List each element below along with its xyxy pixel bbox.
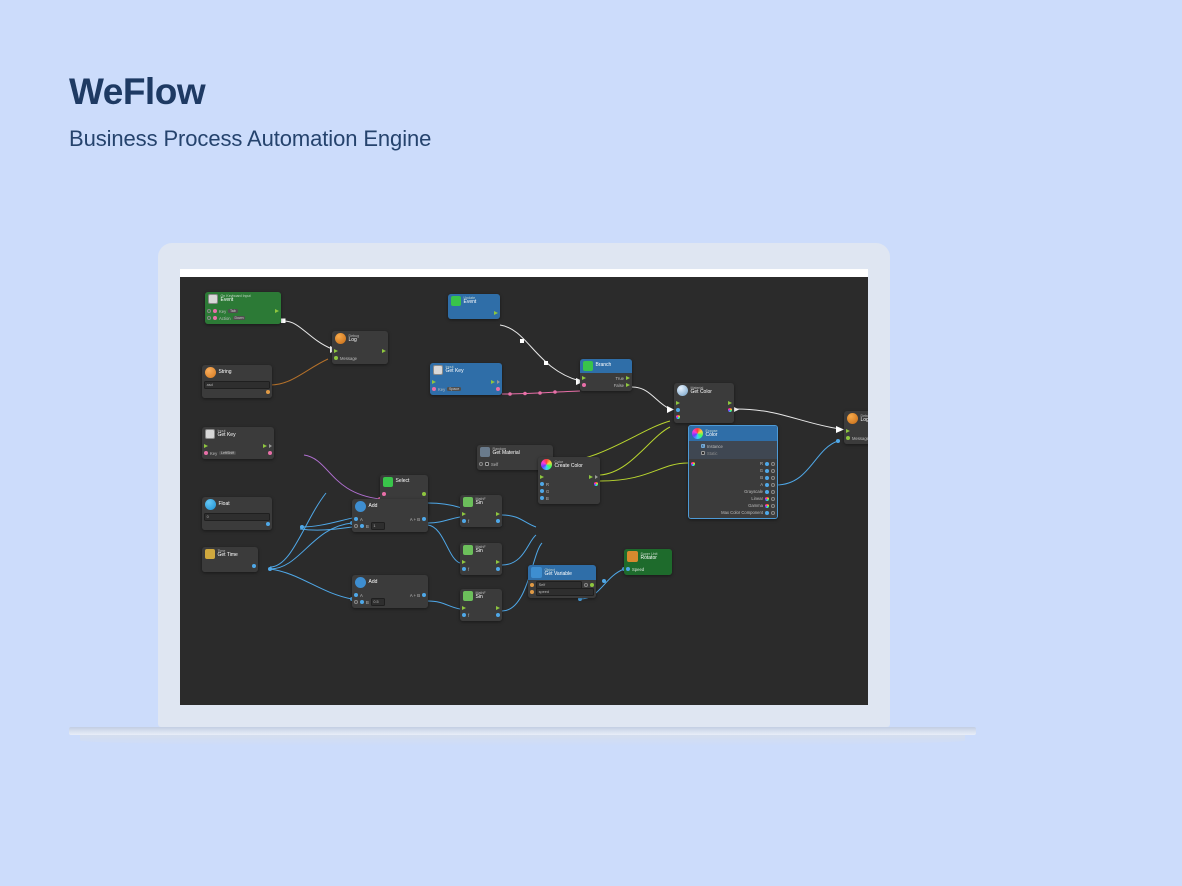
port-label: G: [760, 468, 763, 473]
keyboard-icon: [208, 294, 218, 304]
node-category: Super Unit: [641, 552, 658, 556]
port-dot-self[interactable]: [530, 583, 534, 587]
port-row-out[interactable]: [202, 563, 258, 570]
port-dot-color-out[interactable]: [594, 482, 598, 486]
node-object-get-variable[interactable]: Object Get Variable Self: [528, 565, 596, 598]
port-label: A: [760, 482, 763, 487]
laptop-bezel-strip: [180, 269, 868, 277]
node-header: Expose Color: [689, 426, 777, 441]
flow-out-arrow[interactable]: [494, 311, 498, 315]
node-title: Sin: [476, 549, 486, 555]
node-header: Time Get Time: [202, 547, 258, 561]
log-icon: [847, 413, 858, 424]
port-dot-f[interactable]: [462, 613, 466, 617]
port-dot-speed[interactable]: [530, 590, 534, 594]
port-dot-key[interactable]: [204, 451, 208, 455]
node-body: Message: [844, 426, 868, 444]
port-label: Gamma: [748, 503, 763, 508]
port-row-flow[interactable]: [844, 428, 868, 435]
action-value[interactable]: Down: [233, 316, 246, 321]
b-value-input[interactable]: 0.5: [371, 598, 385, 606]
port-row-f[interactable]: f: [460, 518, 502, 525]
port-dot-out[interactable]: [496, 567, 500, 571]
flow-in-arrow[interactable]: [462, 512, 466, 516]
node-add-1[interactable]: Add A A + B: [352, 499, 428, 532]
node-title: Get Material: [493, 451, 520, 457]
node-header: MathF Sin: [460, 495, 502, 509]
key-value[interactable]: Tab: [228, 309, 237, 314]
node-mathf-sin-3[interactable]: MathF Sin f: [460, 589, 502, 621]
branch-icon: [583, 361, 593, 371]
output-label: A + B: [410, 593, 420, 598]
self-icon[interactable]: [485, 462, 489, 466]
port-row-b[interactable]: B 1: [352, 523, 428, 530]
node-category: On Keyboard Input: [221, 294, 251, 298]
laptop-base-shadow: [80, 735, 965, 746]
port-label: Speed: [632, 567, 644, 572]
port-label: True: [616, 376, 624, 381]
port-dot-b[interactable]: [540, 496, 544, 500]
node-title: String: [219, 370, 232, 376]
node-body: R G B: [538, 472, 600, 504]
port-row-flow[interactable]: [674, 400, 734, 407]
flow-out-arrow[interactable]: [275, 309, 279, 313]
node-header: Object Get Variable: [528, 565, 596, 580]
node-category: MathF: [476, 591, 486, 595]
node-category: MathF: [476, 497, 486, 501]
port-dot-ring[interactable]: [771, 497, 775, 501]
key-value[interactable]: Space: [447, 387, 461, 392]
port-dot-out[interactable]: [252, 564, 256, 568]
port-dot-material[interactable]: [676, 408, 680, 412]
port-label: Self: [491, 462, 498, 467]
material-icon: [677, 385, 688, 396]
node-string-literal[interactable]: String asd: [202, 365, 272, 398]
port-row-a[interactable]: A: [689, 481, 777, 488]
b-value-input[interactable]: 1: [371, 522, 385, 530]
brand-header: WeFlow Business Process Automation Engin…: [69, 72, 431, 152]
port-dot-ring[interactable]: [771, 504, 775, 508]
port-label: A: [360, 593, 363, 598]
node-title: Add: [369, 580, 378, 586]
port-dot-a[interactable]: [354, 593, 358, 597]
port-dot-out[interactable]: [266, 390, 270, 394]
node-body: True False: [580, 373, 632, 391]
select-icon: [383, 477, 393, 487]
port-dot-out[interactable]: [496, 387, 500, 391]
node-title: Get Time: [218, 553, 238, 559]
port-row-message[interactable]: Message: [844, 435, 868, 442]
option-label: Instance: [707, 444, 723, 449]
port-dot-out[interactable]: [268, 451, 272, 455]
port-dot-condition[interactable]: [582, 383, 586, 387]
port-label: Max Color Component: [721, 510, 763, 515]
flow-out-arrow[interactable]: [496, 606, 500, 610]
port-dot-out[interactable]: [496, 519, 500, 523]
node-header: Debug Log: [332, 331, 388, 346]
node-expose-color[interactable]: Expose Color Instance Static: [688, 425, 778, 519]
port-dot-f[interactable]: [462, 519, 466, 523]
checkbox-instance[interactable]: [701, 444, 705, 448]
node-on-keyboard-input[interactable]: On Keyboard Input Event Key Tab: [205, 292, 281, 324]
port-dot-message[interactable]: [846, 436, 850, 440]
port-row-speed[interactable]: speed: [528, 589, 596, 596]
node-category: Expose: [706, 429, 718, 433]
node-body: f: [460, 509, 502, 527]
port-dot-a[interactable]: [765, 483, 769, 487]
float-value-row[interactable]: 0: [202, 514, 272, 521]
node-update-event[interactable]: Update Event: [448, 294, 500, 319]
port-label: Message: [852, 436, 868, 441]
node-header: Select: [380, 475, 428, 489]
flow-in-arrow[interactable]: [334, 349, 338, 353]
flow-out-arrow-true[interactable]: [626, 376, 630, 380]
port-row-false[interactable]: False: [580, 382, 632, 389]
node-title: Get Color: [691, 390, 712, 396]
node-title: Get Key: [446, 369, 464, 375]
flow-out-triangle[interactable]: [497, 380, 500, 384]
output-label: A + B: [410, 517, 420, 522]
flow-in-arrow[interactable]: [432, 380, 436, 384]
node-header: Super Unit Rotator: [624, 549, 672, 564]
port-dot-r[interactable]: [540, 482, 544, 486]
port-label: False: [614, 383, 624, 388]
node-body: [448, 308, 500, 319]
node-header: MathF Sin: [460, 589, 502, 603]
node-mathf-sin-2[interactable]: MathF Sin f: [460, 543, 502, 575]
port-row-key[interactable]: Key Space: [430, 386, 502, 393]
port-row-message[interactable]: Message: [332, 355, 388, 362]
node-title: Event: [221, 298, 251, 304]
flow-in-arrow[interactable]: [462, 560, 466, 564]
port-row-f[interactable]: f: [460, 612, 502, 619]
port-dot-ring[interactable]: [207, 316, 211, 320]
port-dot-out[interactable]: [422, 593, 426, 597]
node-category: Debug: [861, 414, 869, 418]
node-body: f: [460, 603, 502, 621]
port-dot-key[interactable]: [213, 309, 217, 313]
port-row-gamma[interactable]: Gamma: [689, 502, 777, 509]
node-title: Branch: [596, 363, 612, 369]
port-label: Action: [219, 316, 231, 321]
port-label: B: [760, 475, 763, 480]
port-row-material[interactable]: [674, 407, 734, 414]
port-dot-out[interactable]: [590, 583, 594, 587]
port-label: f: [468, 567, 469, 572]
color-icon: [541, 459, 552, 470]
node-float-literal[interactable]: Float 0: [202, 497, 272, 530]
node-title: Add: [369, 504, 378, 510]
port-row-out[interactable]: [202, 389, 272, 396]
option-label: Static: [707, 451, 717, 456]
node-category: Random: [493, 447, 520, 451]
port-row-f[interactable]: f: [460, 566, 502, 573]
laptop-screen: On Keyboard Input Event Key Tab: [180, 277, 868, 705]
node-body: f: [460, 557, 502, 575]
superunit-icon: [627, 551, 638, 562]
port-dot-out[interactable]: [496, 613, 500, 617]
color-icon: [692, 428, 703, 439]
variable-name-input[interactable]: speed: [536, 588, 594, 596]
math-icon: [463, 545, 473, 555]
flow-out-arrow[interactable]: [728, 401, 732, 405]
port-dot-out[interactable]: [422, 492, 426, 496]
port-label: Linear: [751, 496, 763, 501]
port-dot-ring[interactable]: [354, 600, 358, 604]
laptop-base: [69, 727, 976, 735]
math-icon: [463, 591, 473, 601]
node-body: [674, 398, 734, 423]
option-row-instance[interactable]: Instance: [689, 443, 777, 450]
string-icon: [205, 367, 216, 378]
node-category: Color: [555, 460, 583, 464]
random-icon: [480, 447, 490, 457]
port-dot-action[interactable]: [213, 316, 217, 320]
flow-out-arrow[interactable]: [496, 560, 500, 564]
port-row-b[interactable]: B: [538, 495, 600, 502]
keyboard-icon: [205, 429, 215, 439]
port-label: R: [760, 461, 763, 466]
port-row-action[interactable]: Action Down: [205, 315, 281, 322]
port-row-flow-out[interactable]: [448, 310, 500, 317]
port-dot-ring[interactable]: [207, 309, 211, 313]
port-dot-ring[interactable]: [771, 462, 775, 466]
port-dot-max-color[interactable]: [765, 511, 769, 515]
port-label: Key: [219, 309, 226, 314]
node-mathf-sin-1[interactable]: MathF Sin f: [460, 495, 502, 527]
port-dot-color-in[interactable]: [676, 415, 680, 419]
add-icon: [355, 577, 366, 588]
port-row-flow[interactable]: [430, 379, 502, 386]
flow-out-triangle[interactable]: [595, 475, 598, 479]
port-row-flow[interactable]: [460, 511, 502, 518]
math-icon: [463, 497, 473, 507]
port-row-condition[interactable]: [380, 491, 428, 498]
node-header: MathF Sin: [460, 543, 502, 557]
port-row-flow[interactable]: [202, 443, 274, 450]
port-row-a[interactable]: A A + B: [352, 592, 428, 599]
port-row-max-color-component[interactable]: Max Color Component: [689, 509, 777, 516]
port-dot-ring[interactable]: [354, 524, 358, 528]
flow-in-arrow[interactable]: [540, 475, 544, 479]
port-row-linear[interactable]: Linear: [689, 495, 777, 502]
flow-out-arrow[interactable]: [382, 349, 386, 353]
port-row-g[interactable]: G: [689, 467, 777, 474]
port-label: f: [468, 613, 469, 618]
port-row-flow[interactable]: [460, 605, 502, 612]
node-category: Time: [218, 549, 238, 553]
port-dot-b[interactable]: [360, 600, 364, 604]
node-options: Instance Static: [689, 441, 777, 459]
node-category: Update: [464, 296, 477, 300]
port-dot-condition[interactable]: [382, 492, 386, 496]
port-dot-color-in[interactable]: [691, 462, 695, 466]
port-dot-grayscale[interactable]: [765, 490, 769, 494]
node-debug-log-right[interactable]: Debug Log Message: [844, 411, 868, 444]
flow-in-arrow[interactable]: [676, 401, 680, 405]
port-row-color[interactable]: [674, 414, 734, 421]
node-input-get-key-leftshift[interactable]: Input Get Key Key: [202, 427, 274, 459]
port-dot-speed[interactable]: [626, 567, 630, 571]
node-category: Input: [446, 365, 464, 369]
node-input-get-key-space[interactable]: Input Get Key Key: [430, 363, 502, 395]
port-dot-b[interactable]: [360, 524, 364, 528]
port-dot-linear[interactable]: [765, 497, 769, 501]
flow-in-arrow[interactable]: [846, 429, 850, 433]
port-label: G: [546, 489, 549, 494]
port-row-key[interactable]: Key LeftShift: [202, 450, 274, 457]
node-title: Get Key: [218, 433, 236, 439]
port-dot-out[interactable]: [266, 522, 270, 526]
keyboard-icon: [433, 365, 443, 375]
float-icon: [205, 499, 216, 510]
node-title: Event: [464, 300, 477, 306]
port-row-flow[interactable]: [332, 348, 388, 355]
node-title: Log: [861, 418, 869, 424]
port-dot-key[interactable]: [432, 387, 436, 391]
node-header: Input Get Key: [430, 363, 502, 377]
node-graph-canvas[interactable]: On Keyboard Input Event Key Tab: [180, 277, 868, 705]
flow-out-arrow[interactable]: [496, 512, 500, 516]
node-header: Debug Log: [844, 411, 868, 426]
node-category: Input: [218, 429, 236, 433]
node-header: String: [202, 365, 272, 380]
node-time-get-time[interactable]: Time Get Time: [202, 547, 258, 572]
port-label: Message: [340, 356, 357, 361]
port-label: B: [546, 496, 549, 501]
port-dot-ring[interactable]: [771, 476, 775, 480]
port-row-b[interactable]: B 0.5: [352, 599, 428, 606]
port-dot-f[interactable]: [462, 567, 466, 571]
flow-out-triangle[interactable]: [269, 444, 272, 448]
time-icon: [205, 549, 215, 559]
node-color-create-color[interactable]: Color Create Color R: [538, 457, 600, 504]
flow-out-arrow[interactable]: [491, 380, 495, 384]
node-body: Self speed: [528, 580, 596, 598]
port-label: f: [468, 519, 469, 524]
node-header: Color Create Color: [538, 457, 600, 472]
port-row-r[interactable]: R: [538, 481, 600, 488]
port-row-r[interactable]: R: [689, 460, 777, 467]
port-label: B: [366, 600, 369, 605]
node-header: Float: [202, 497, 272, 512]
node-body: A A + B B 1: [352, 514, 428, 532]
node-title: Rotator: [641, 556, 658, 562]
port-dot-ring[interactable]: [479, 462, 483, 466]
key-value[interactable]: LeftShift: [219, 451, 236, 456]
string-value-row[interactable]: asd: [202, 382, 272, 389]
node-material-get-color[interactable]: Material Get Color: [674, 383, 734, 423]
port-dot-a[interactable]: [354, 517, 358, 521]
node-body: Key LeftShift: [202, 441, 274, 459]
node-debug-log-top[interactable]: Debug Log Message: [332, 331, 388, 364]
node-title: Log: [349, 338, 360, 344]
node-title: Create Color: [555, 464, 583, 470]
port-label: Key: [210, 451, 217, 456]
node-super-unit-rotator[interactable]: Super Unit Rotator Speed: [624, 549, 672, 575]
update-icon: [451, 296, 461, 306]
node-body: Key Tab Action Down: [205, 306, 281, 324]
port-row-b[interactable]: B: [689, 474, 777, 481]
port-row-flow[interactable]: [460, 559, 502, 566]
node-title: Get Variable: [545, 572, 572, 578]
page-title: WeFlow: [69, 72, 431, 113]
port-dot-gamma[interactable]: [765, 504, 769, 508]
port-row-true[interactable]: True: [580, 375, 632, 382]
port-dot-r[interactable]: [765, 462, 769, 466]
laptop-lid: On Keyboard Input Event Key Tab: [158, 243, 890, 727]
node-header: On Keyboard Input Event: [205, 292, 281, 306]
log-icon: [335, 333, 346, 344]
node-title: Color: [706, 433, 718, 439]
flow-out-arrow[interactable]: [589, 475, 593, 479]
laptop-mockup: On Keyboard Input Event Key Tab: [158, 243, 890, 727]
node-body: Speed: [624, 564, 672, 575]
node-branch[interactable]: Branch True False: [580, 359, 632, 391]
port-dot-ring[interactable]: [771, 469, 775, 473]
node-body: Message: [332, 346, 388, 364]
node-body: [202, 561, 258, 572]
node-body: A A + B B 0.5: [352, 590, 428, 608]
port-row-out[interactable]: [202, 521, 272, 528]
port-row-speed[interactable]: Speed: [624, 566, 672, 573]
flow-in-arrow[interactable]: [462, 606, 466, 610]
flow-in-arrow[interactable]: [204, 444, 208, 448]
option-row-static[interactable]: Static: [689, 450, 777, 457]
port-dot-out[interactable]: [422, 517, 426, 521]
node-header: Add: [352, 499, 428, 514]
node-category: MathF: [476, 545, 486, 549]
node-body: asd: [202, 380, 272, 398]
port-dot-ring[interactable]: [771, 490, 775, 494]
port-label: R: [546, 482, 549, 487]
port-row-key[interactable]: Key Tab: [205, 308, 281, 315]
port-row-flow[interactable]: [538, 474, 600, 481]
node-add-2[interactable]: Add A A + B: [352, 575, 428, 608]
port-dot-ring[interactable]: [771, 511, 775, 515]
node-title: Select: [396, 479, 410, 485]
port-row-grayscale[interactable]: Grayscale: [689, 488, 777, 495]
port-row-a[interactable]: A A + B: [352, 516, 428, 523]
node-title: Sin: [476, 595, 486, 601]
port-dot-ring[interactable]: [584, 583, 588, 587]
flow-out-arrow[interactable]: [263, 444, 267, 448]
port-dot-color-out[interactable]: [728, 408, 732, 412]
node-header: Input Get Key: [202, 427, 274, 441]
node-header: Update Event: [448, 294, 500, 308]
port-dot-ring[interactable]: [771, 483, 775, 487]
port-label: Grayscale: [744, 489, 763, 494]
node-header: Add: [352, 575, 428, 590]
node-header: Material Get Color: [674, 383, 734, 398]
port-dot-b[interactable]: [765, 476, 769, 480]
checkbox-static[interactable]: [701, 451, 705, 455]
flow-in-arrow[interactable]: [582, 376, 586, 380]
flow-out-arrow-false[interactable]: [626, 383, 630, 387]
node-body: R G B: [689, 459, 777, 519]
port-label: B: [366, 524, 369, 529]
node-body: 0: [202, 512, 272, 530]
port-row-g[interactable]: G: [538, 488, 600, 495]
object-icon: [531, 567, 542, 578]
node-title: Float: [219, 502, 230, 508]
port-label: A: [360, 517, 363, 522]
port-dot-g[interactable]: [540, 489, 544, 493]
node-category: Object: [545, 568, 572, 572]
port-dot-message[interactable]: [334, 356, 338, 360]
port-dot-g[interactable]: [765, 469, 769, 473]
node-header: Branch: [580, 359, 632, 373]
